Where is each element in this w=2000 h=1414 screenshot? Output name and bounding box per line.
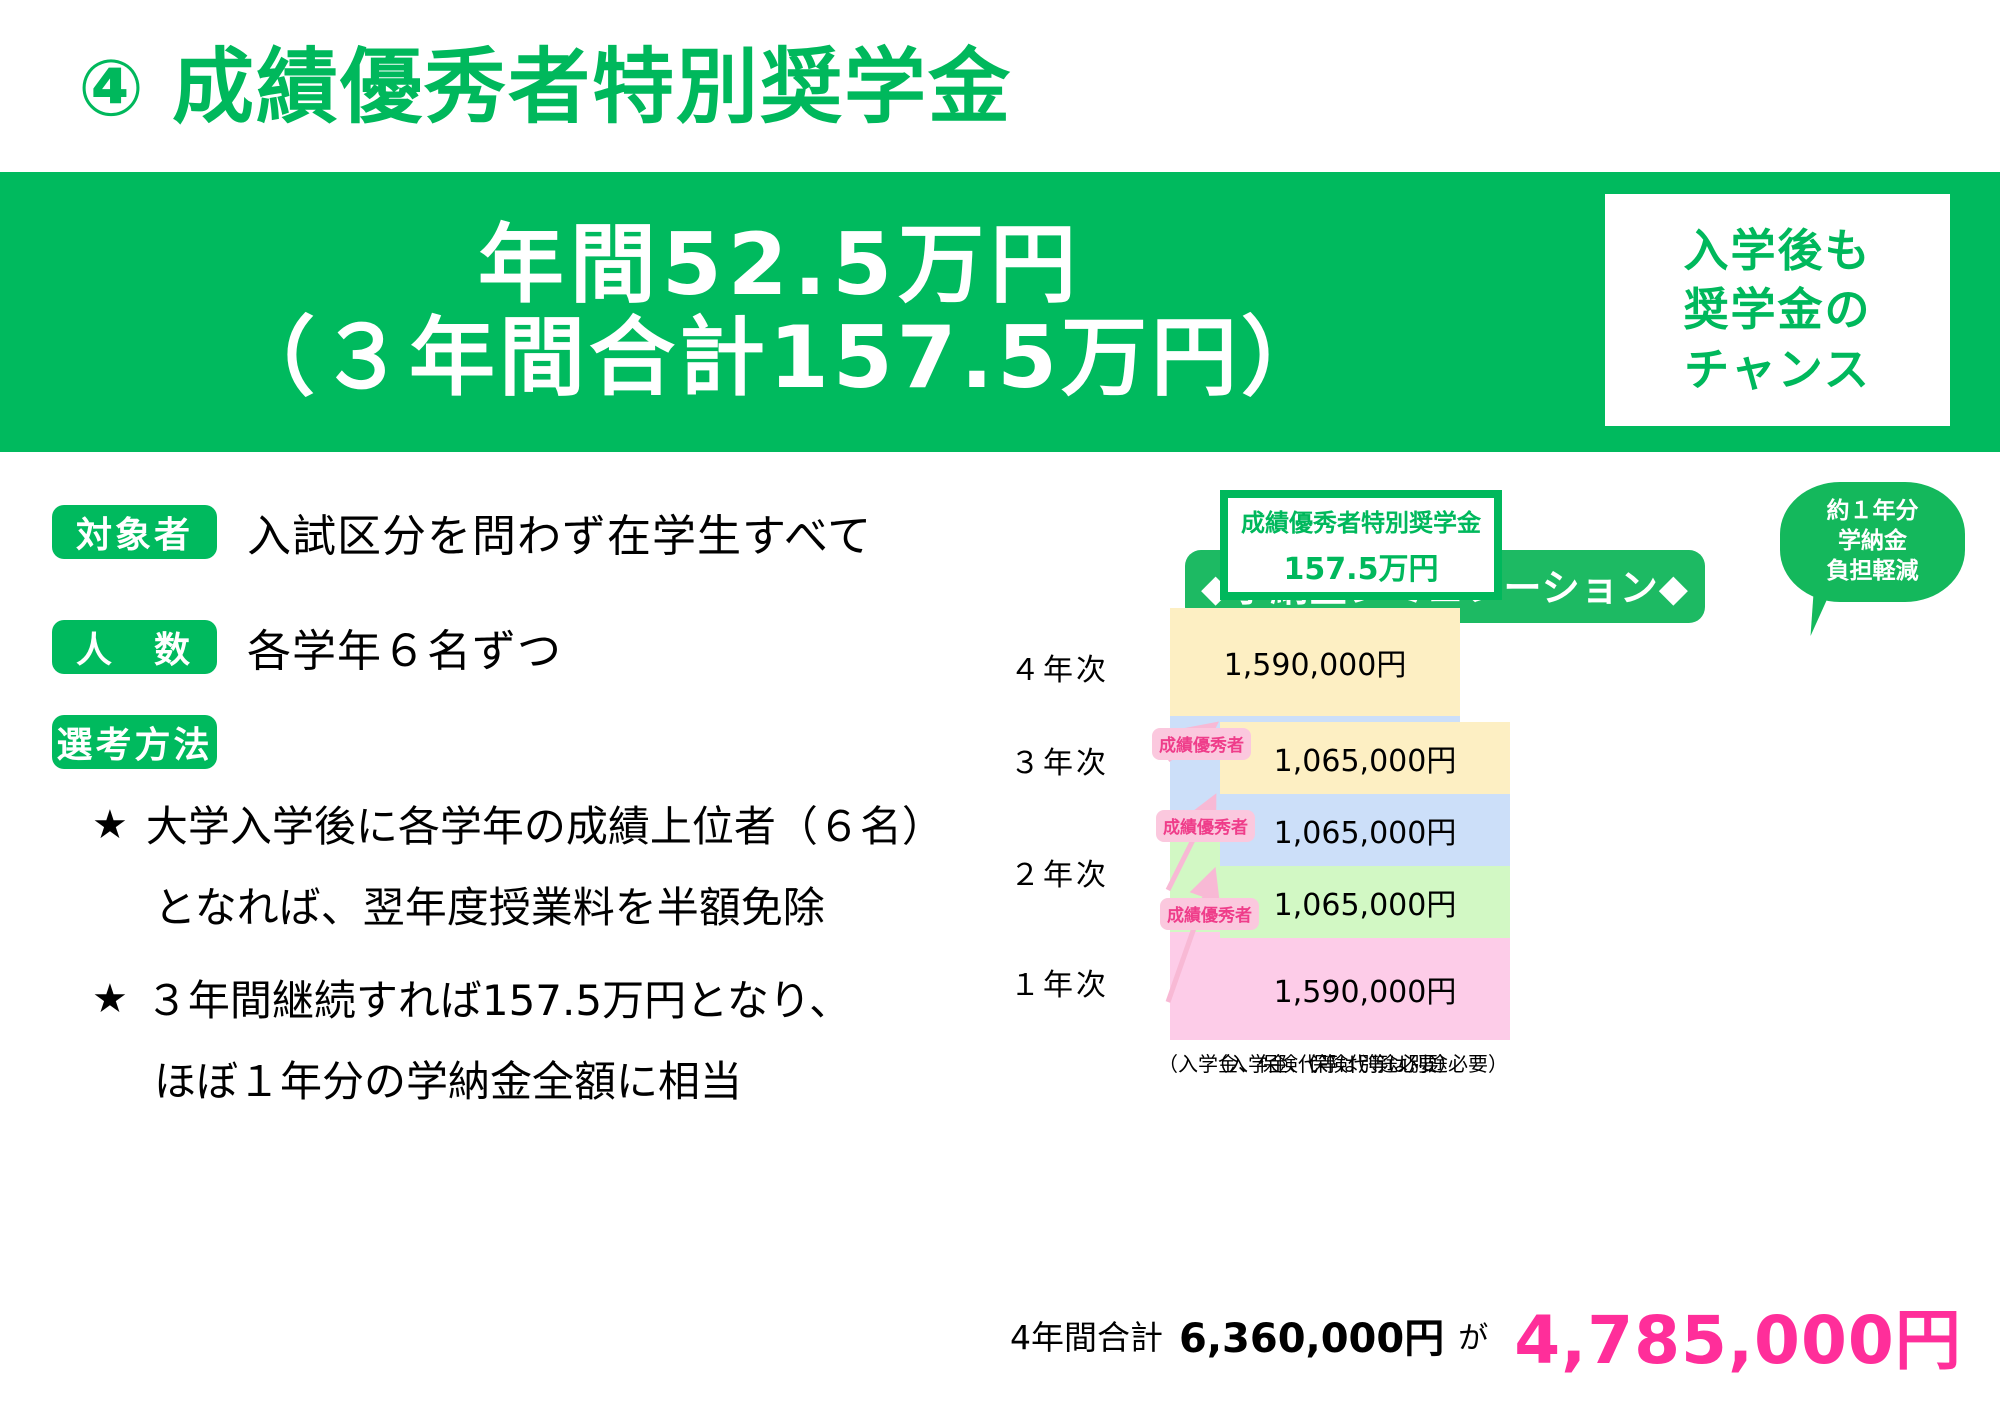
bubble-tail-icon	[1811, 594, 1840, 636]
headline-line-2: （３年間合計157.5万円）	[229, 312, 1331, 405]
simulation-section: ◆学納金シミュレーション◆ 約１年分 学納金 負担軽減 ４年次 ３年次 ２年次 …	[1030, 470, 2000, 1414]
tag-count: 人 数	[52, 620, 217, 674]
info-row-target: 対象者 入試区分を問わず在学生すべて	[52, 500, 872, 564]
scholarship-amount: 157.5万円	[1284, 544, 1439, 588]
poster-root: ④ 成績優秀者特別奨学金 年間52.5万円 （３年間合計157.5万円） 入学後…	[0, 0, 2000, 1414]
bar-segment-year-2-reduced: 1,065,000円	[1220, 866, 1510, 938]
savings-callout-bubble: 約１年分 学納金 負担軽減	[1780, 482, 1965, 602]
axis-label-year-2: ２年次	[1010, 850, 1109, 894]
bullet-2-line-2: ほぼ１年分の学納金全額に相当	[154, 1050, 742, 1113]
star-icon: ★	[92, 969, 128, 1029]
axis-label-year-3: ３年次	[1010, 738, 1109, 782]
totals-connector: が	[1458, 1313, 1488, 1357]
bar-segment-year-3-reduced: 1,065,000円	[1220, 794, 1510, 866]
title-number: ④	[78, 49, 144, 127]
bullet-2-line-1: ３年間継続すれば157.5万円となり、	[146, 969, 851, 1032]
totals-label: 4年間合計	[1010, 1311, 1163, 1359]
bar-segment-year-1-full: 1,590,000円	[1220, 938, 1510, 1040]
totals-row: 4年間合計 6,360,000円 が 4,785,000円	[1030, 1290, 2000, 1380]
axis-label-year-4: ４年次	[1010, 645, 1109, 689]
title-text: 成績優秀者特別奨学金	[172, 47, 1012, 129]
arrow-label-1: 成績優秀者	[1152, 728, 1251, 760]
chart-column-with-scholarship: 1,065,000円 1,065,000円 1,065,000円 1,590,0…	[1220, 608, 1510, 1040]
list-item: ★ 大学入学後に各学年の成績上位者（６名）	[92, 795, 1022, 858]
caption-right: （入学金、保険代等は別途必要）	[1208, 1048, 1508, 1077]
headline-banner: 年間52.5万円 （３年間合計157.5万円） 入学後も 奨学金の チャンス	[0, 172, 2000, 452]
page-title: ④ 成績優秀者特別奨学金	[0, 28, 2000, 148]
value-target: 入試区分を問わず在学生すべて	[247, 500, 872, 564]
banner-badge-line-1: 入学後も	[1683, 221, 1871, 280]
info-section: 対象者 入試区分を問わず在学生すべて 人 数 各学年６名ずつ 選考方法 ★ 大学…	[0, 470, 1030, 1130]
totals-after: 4,785,000円	[1514, 1287, 1962, 1383]
headline-amount-block: 年間52.5万円 （３年間合計157.5万円）	[0, 172, 1560, 452]
axis-label-year-1: １年次	[1010, 960, 1109, 1004]
banner-badge-line-2: 奨学金の	[1683, 280, 1871, 339]
info-row-method: 選考方法	[52, 715, 217, 769]
list-item: ほぼ１年分の学納金全額に相当	[154, 1050, 1022, 1113]
tag-method: 選考方法	[52, 715, 217, 769]
star-icon: ★	[92, 795, 128, 855]
tag-target: 対象者	[52, 505, 217, 559]
scholarship-name: 成績優秀者特別奨学金	[1241, 503, 1481, 538]
bullet-list: ★ 大学入学後に各学年の成績上位者（６名） となれば、翌年度授業料を半額免除 ★…	[92, 795, 1022, 1131]
list-item: となれば、翌年度授業料を半額免除	[154, 876, 1022, 939]
bullet-1-line-1: 大学入学後に各学年の成績上位者（６名）	[146, 795, 944, 858]
info-row-count: 人 数 各学年６名ずつ	[52, 615, 562, 679]
scholarship-highlight-box: 成績優秀者特別奨学金 157.5万円	[1220, 490, 1502, 600]
list-item: ★ ３年間継続すれば157.5万円となり、	[92, 969, 1022, 1032]
bar-segment-year-4-reduced: 1,065,000円	[1220, 722, 1510, 794]
bubble-line-1: 約１年分	[1827, 497, 1919, 527]
value-count: 各学年６名ずつ	[247, 615, 562, 679]
headline-line-1: 年間52.5万円	[478, 219, 1082, 312]
banner-badge: 入学後も 奨学金の チャンス	[1605, 194, 1950, 426]
banner-badge-line-3: チャンス	[1684, 340, 1871, 399]
bubble-line-2: 学納金	[1838, 527, 1907, 557]
bubble-line-3: 負担軽減	[1827, 557, 1919, 587]
arrow-label-2: 成績優秀者	[1156, 810, 1255, 842]
arrow-label-3: 成績優秀者	[1160, 898, 1259, 930]
totals-before: 6,360,000円	[1179, 1306, 1444, 1364]
bullet-1-line-2: となれば、翌年度授業料を半額免除	[154, 876, 825, 939]
